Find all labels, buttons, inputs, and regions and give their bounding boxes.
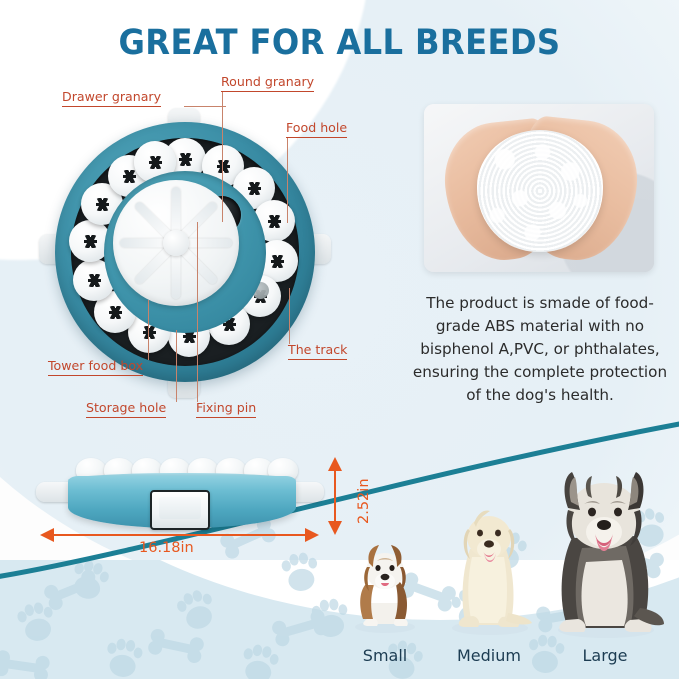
dog-large-malamute bbox=[538, 452, 672, 638]
leader-drawer-granary bbox=[184, 106, 226, 107]
height-arrow-up bbox=[325, 456, 345, 474]
material-description: The product is smade of food-grade ABS m… bbox=[412, 292, 668, 407]
width-dimension-line bbox=[52, 534, 307, 536]
side-hatch-inner bbox=[159, 497, 201, 519]
product-top-view bbox=[55, 122, 315, 382]
leader-storage-hole bbox=[176, 330, 177, 402]
leader-food-hole bbox=[287, 138, 288, 223]
dog-medium-labrador bbox=[434, 487, 544, 635]
dog-small-beagle bbox=[341, 523, 429, 633]
breed-label-small: Small bbox=[341, 646, 429, 665]
infographic-page: GREAT FOR ALL BREEDS bbox=[0, 0, 679, 679]
leader-the-track bbox=[289, 288, 290, 344]
page-title: GREAT FOR ALL BREEDS bbox=[27, 23, 652, 63]
leader-fixing-pin bbox=[197, 222, 198, 402]
side-hatch bbox=[150, 490, 210, 530]
abs-pellets-photo bbox=[424, 104, 654, 272]
height-dimension-line bbox=[334, 468, 336, 524]
leader-tower-food-box bbox=[148, 300, 149, 360]
breed-label-medium: Medium bbox=[434, 646, 544, 665]
callout-storage-hole: Storage hole bbox=[86, 400, 166, 418]
disc-hub bbox=[163, 230, 189, 256]
product-side-view bbox=[40, 452, 320, 532]
width-dimension-label: 16.18in bbox=[139, 540, 194, 556]
breed-label-large: Large bbox=[538, 646, 672, 665]
leader-round-granary bbox=[222, 92, 223, 222]
abs-pellet-pile bbox=[477, 130, 603, 252]
callout-the-track: The track bbox=[288, 342, 347, 360]
callout-food-hole: Food hole bbox=[286, 120, 347, 138]
height-dimension-label: 2.52in bbox=[356, 478, 372, 524]
tower-food-box-disc bbox=[113, 180, 239, 306]
callout-fixing-pin: Fixing pin bbox=[196, 400, 256, 418]
width-arrow-left bbox=[38, 525, 58, 545]
callout-tower-food-box: Tower food box bbox=[48, 358, 143, 376]
side-handle-left bbox=[36, 482, 72, 502]
callout-round-granary: Round granary bbox=[221, 74, 314, 92]
callout-drawer-granary: Drawer granary bbox=[62, 89, 161, 107]
width-arrow-right bbox=[301, 525, 321, 545]
